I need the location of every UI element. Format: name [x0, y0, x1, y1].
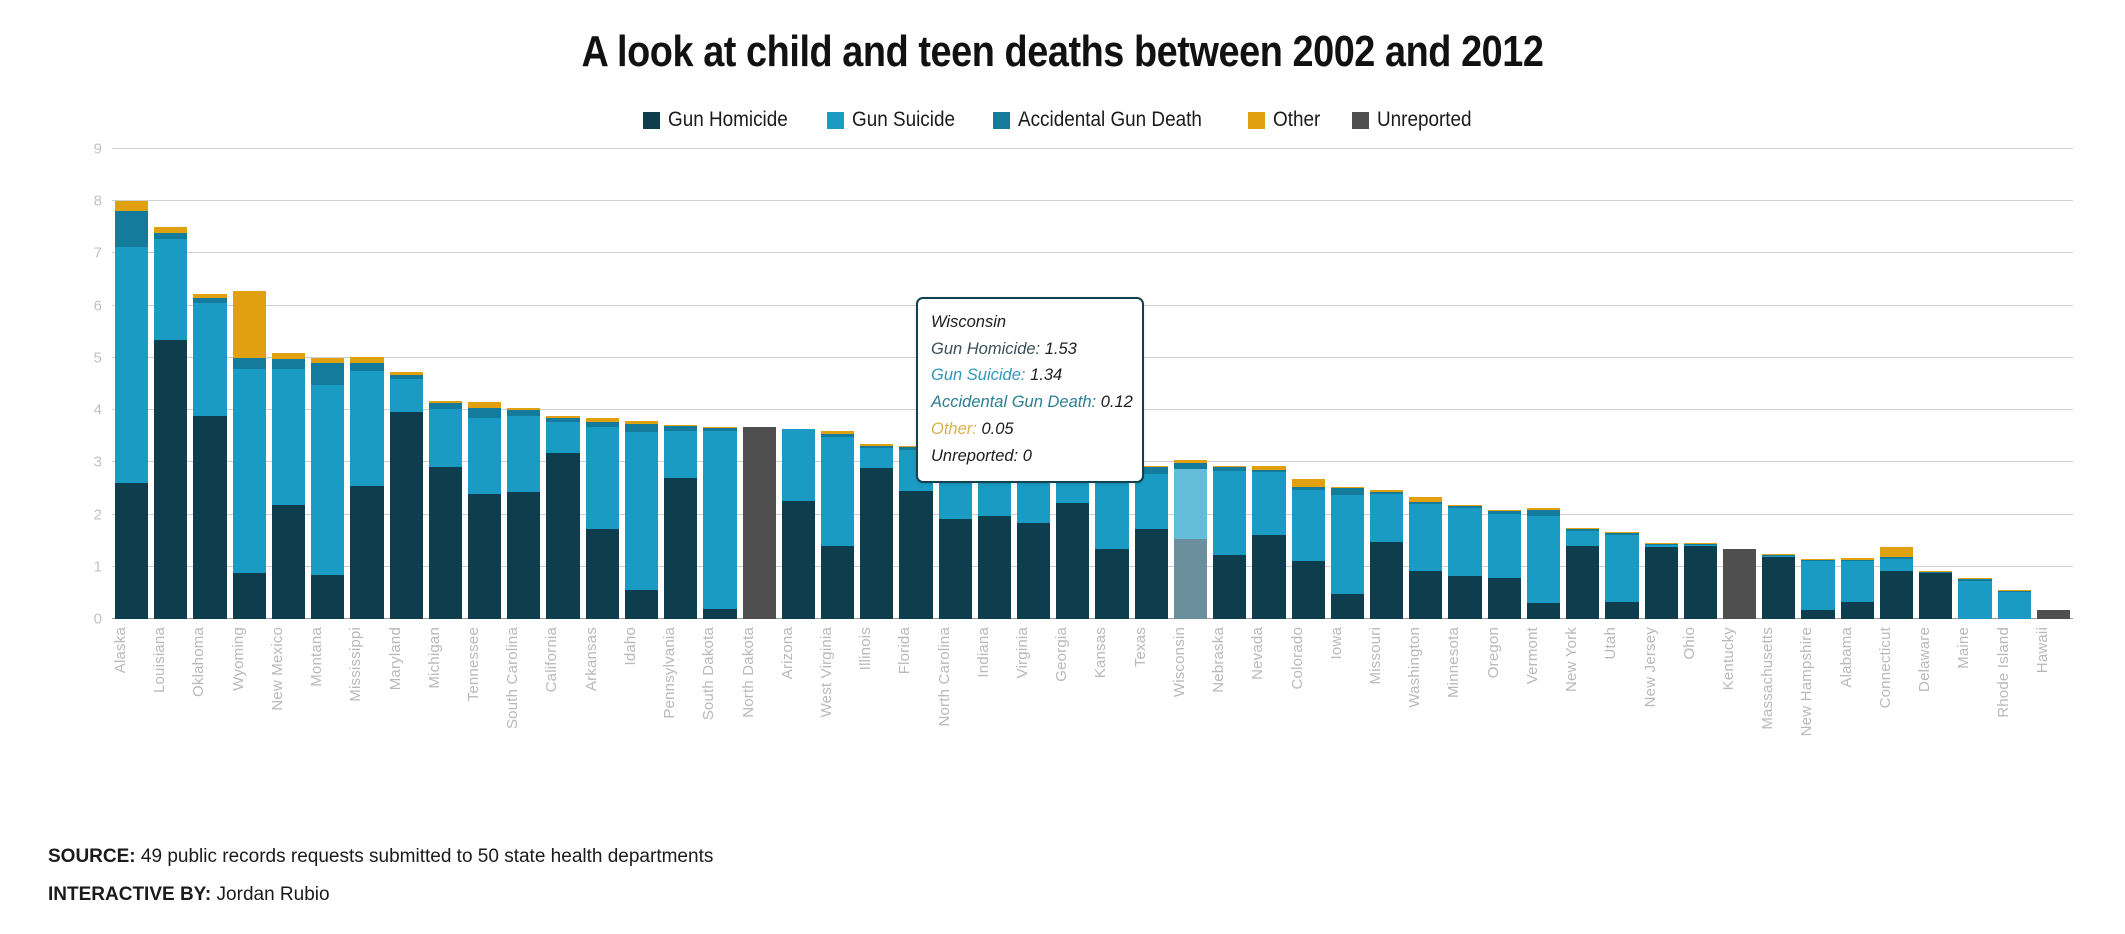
bar-segment: [1331, 594, 1364, 619]
x-axis-tick-label: Rhode Island: [1995, 627, 2012, 718]
bar-segment: [507, 416, 540, 492]
bar-stack[interactable]: [1292, 479, 1325, 619]
bar-segment: [703, 431, 736, 609]
bar-segment: [1331, 495, 1364, 594]
bar-segment: [1645, 547, 1678, 619]
bar-column[interactable]: [426, 149, 465, 619]
bar-stack[interactable]: [1801, 559, 1834, 619]
x-axis-tick[interactable]: Ohio: [1681, 627, 1720, 757]
bar-segment: [115, 483, 148, 619]
bar-segment: [1135, 529, 1168, 619]
tooltip-row-value: 1.34: [1025, 366, 1062, 384]
x-axis-tick-label: Iowa: [1328, 627, 1345, 660]
bar-segment: [1880, 559, 1913, 570]
x-axis-tick[interactable]: Connecticut: [1877, 627, 1916, 757]
chart-tooltip: Wisconsin Gun Homicide: 1.53Gun Suicide:…: [916, 297, 1144, 483]
bar-segment: [193, 303, 226, 416]
x-axis-tick[interactable]: Alabama: [1838, 627, 1877, 757]
bar-stack[interactable]: [1488, 510, 1521, 619]
bar-stack[interactable]: [1448, 505, 1481, 619]
bar-column[interactable]: [151, 149, 190, 619]
bar-segment: [350, 371, 383, 486]
bar-column[interactable]: [1681, 149, 1720, 619]
bar-segment: [390, 379, 423, 412]
x-axis-tick[interactable]: Alaska: [112, 627, 151, 757]
y-tick-label: 1: [94, 558, 102, 575]
x-axis-tick[interactable]: Wisconsin: [1171, 627, 1210, 757]
bar-column[interactable]: [1877, 149, 1916, 619]
legend-swatch-icon: [1352, 112, 1369, 129]
bar-segment: [625, 590, 658, 619]
tooltip-row-label: Other:: [931, 420, 977, 438]
bar-segment: [1292, 490, 1325, 561]
bar-stack[interactable]: [743, 427, 776, 619]
x-axis-tick-label: Nebraska: [1210, 627, 1227, 693]
legend-item-label: Accidental Gun Death: [1018, 108, 1202, 132]
bar-stack[interactable]: [546, 416, 579, 619]
x-axis-tick-label: Alabama: [1838, 627, 1855, 688]
bar-segment: [1017, 523, 1050, 619]
bar-segment: [311, 385, 344, 576]
interactive-by-label: INTERACTIVE BY:: [48, 884, 211, 905]
x-axis-tick-label: Oklahoma: [190, 627, 207, 697]
bar-segment: [546, 453, 579, 619]
x-axis-tick[interactable]: Oklahoma: [190, 627, 229, 757]
x-axis-tick-label: Wyoming: [230, 627, 247, 691]
bar-segment: [1488, 514, 1521, 579]
bar-column[interactable]: [1995, 149, 2034, 619]
bar-column[interactable]: [387, 149, 426, 619]
x-axis-tick-label: Indiana: [975, 627, 992, 678]
bar-column[interactable]: [1171, 149, 1210, 619]
x-axis-tick[interactable]: Idaho: [622, 627, 661, 757]
bar-segment: [350, 363, 383, 371]
x-axis-tick[interactable]: Texas: [1132, 627, 1171, 757]
bar-stack[interactable]: [1723, 549, 1756, 620]
x-axis-tick-label: New York: [1563, 627, 1580, 692]
bar-segment: [978, 516, 1011, 619]
bar-stack[interactable]: [1605, 532, 1638, 619]
x-axis-tick[interactable]: New Hampshire: [1798, 627, 1837, 757]
x-axis-tick-label: Michigan: [426, 627, 443, 689]
bar-column[interactable]: [308, 149, 347, 619]
x-axis-tick[interactable]: South Dakota: [700, 627, 739, 757]
bar-segment: [1919, 573, 1952, 619]
bar-stack[interactable]: [468, 402, 501, 619]
y-tick-label: 8: [94, 193, 102, 210]
bar-segment: [468, 418, 501, 494]
interactive-by-line: INTERACTIVE BY: Jordan Rubio: [48, 884, 1448, 906]
bar-segment: [1958, 581, 1991, 619]
bar-stack[interactable]: [1252, 466, 1285, 620]
x-axis-tick[interactable]: Rhode Island: [1995, 627, 2034, 757]
bar-column[interactable]: [269, 149, 308, 619]
x-axis-tick[interactable]: Nevada: [1249, 627, 1288, 757]
x-axis-tick-label: Texas: [1132, 627, 1149, 667]
x-axis-tick[interactable]: Vermont: [1524, 627, 1563, 757]
x-axis-tick-label: Washington: [1406, 627, 1423, 708]
chart-legend: Gun HomicideGun SuicideAccidental Gun De…: [0, 107, 2125, 133]
bar-stack[interactable]: [1841, 558, 1874, 619]
bar-segment: [899, 491, 932, 619]
x-axis-tick[interactable]: Maryland: [387, 627, 426, 757]
bar-segment: [429, 409, 462, 466]
bar-column[interactable]: [857, 149, 896, 619]
x-axis-tick-label: Ohio: [1681, 627, 1698, 660]
x-axis-tick[interactable]: Oregon: [1485, 627, 1524, 757]
bar-segment: [233, 358, 266, 369]
bar-segment: [1998, 592, 2031, 619]
legend-swatch-icon: [827, 112, 844, 129]
bar-column[interactable]: [190, 149, 229, 619]
bar-column[interactable]: [661, 149, 700, 619]
legend-item-label: Gun Suicide: [852, 108, 955, 132]
y-tick-label: 9: [94, 141, 102, 158]
bar-column[interactable]: [1798, 149, 1837, 619]
x-axis-tick-label: Arizona: [779, 627, 796, 679]
bar-column[interactable]: [818, 149, 857, 619]
bar-column[interactable]: [112, 149, 151, 619]
bar-stack[interactable]: [350, 357, 383, 619]
x-axis-tick[interactable]: Washington: [1406, 627, 1445, 757]
x-axis-tick[interactable]: Arizona: [779, 627, 818, 757]
x-axis-tick[interactable]: Wyoming: [230, 627, 269, 757]
tooltip-row-value: 0: [1018, 447, 1032, 465]
bar-column[interactable]: [583, 149, 622, 619]
bar-segment: [1801, 561, 1834, 610]
bar-segment: [2037, 610, 2070, 619]
x-axis-tick-label: Virginia: [1014, 627, 1031, 678]
tooltip-row-value: 1.53: [1040, 340, 1077, 358]
bar-segment: [1880, 571, 1913, 619]
bar-column[interactable]: [1445, 149, 1484, 619]
x-axis-tick-label: Missouri: [1367, 627, 1384, 684]
x-axis-tick-label: Delaware: [1916, 627, 1933, 692]
x-axis-tick-label: Minnesota: [1445, 627, 1462, 698]
tooltip-row-label: Unreported:: [931, 447, 1018, 465]
x-axis-tick[interactable]: Iowa: [1328, 627, 1367, 757]
x-axis-tick[interactable]: Virginia: [1014, 627, 1053, 757]
x-axis-tick-label: North Dakota: [740, 627, 757, 718]
x-axis-tick-label: Hawaii: [2034, 627, 2051, 673]
bar-segment: [625, 432, 658, 590]
bar-stack[interactable]: [625, 421, 658, 619]
bar-segment: [1292, 479, 1325, 487]
bar-column[interactable]: [1759, 149, 1798, 619]
y-tick-label: 4: [94, 402, 102, 419]
x-axis-tick-label: Montana: [308, 627, 325, 687]
bar-column[interactable]: [1485, 149, 1524, 619]
bar-stack[interactable]: [1095, 460, 1128, 619]
bar-segment: [1409, 504, 1442, 571]
bar-stack[interactable]: [1958, 578, 1991, 619]
x-axis-tick[interactable]: Georgia: [1053, 627, 1092, 757]
x-axis-tick[interactable]: California: [543, 627, 582, 757]
interactive-by-text: Jordan Rubio: [211, 884, 329, 905]
bar-column[interactable]: [230, 149, 269, 619]
x-axis-tick[interactable]: Missouri: [1367, 627, 1406, 757]
bar-column[interactable]: [1642, 149, 1681, 619]
bar-stack[interactable]: [1174, 460, 1207, 619]
bar-segment: [586, 427, 619, 529]
x-axis-tick-label: Oregon: [1485, 627, 1502, 678]
bar-stack[interactable]: [311, 358, 344, 619]
bar-segment: [272, 359, 305, 369]
bar-stack[interactable]: [1370, 490, 1403, 619]
bar-column[interactable]: [347, 149, 386, 619]
bar-segment: [782, 429, 815, 501]
bar-segment: [468, 408, 501, 418]
x-axis-tick-label: Illinois: [857, 627, 874, 670]
x-axis-tick[interactable]: Florida: [896, 627, 935, 757]
x-axis-tick[interactable]: Arkansas: [583, 627, 622, 757]
bar-stack[interactable]: [193, 294, 226, 619]
x-axis-tick-label: New Hampshire: [1798, 627, 1815, 736]
bar-segment: [1448, 576, 1481, 619]
legend-item-unreported[interactable]: Unreported: [1352, 108, 1482, 132]
bar-stack[interactable]: [1919, 571, 1952, 619]
bar-stack[interactable]: [272, 353, 305, 619]
x-axis-tick-label: Utah: [1602, 627, 1619, 660]
x-axis-labels: AlaskaLouisianaOklahomaWyomingNew Mexico…: [112, 627, 2073, 757]
x-axis-tick[interactable]: Mississippi: [347, 627, 386, 757]
x-axis-tick[interactable]: Utah: [1602, 627, 1641, 757]
bar-segment: [1370, 494, 1403, 542]
bar-segment: [272, 505, 305, 619]
bar-segment: [1370, 542, 1403, 619]
legend-swatch-icon: [993, 112, 1010, 129]
x-axis-tick[interactable]: Maine: [1955, 627, 1994, 757]
bar-stack[interactable]: [664, 425, 697, 619]
x-axis-tick-label: Maine: [1955, 627, 1972, 669]
bar-column[interactable]: [1602, 149, 1641, 619]
x-axis-tick-label: Arkansas: [583, 627, 600, 691]
bar-segment: [1409, 571, 1442, 619]
bar-segment: [1605, 602, 1638, 619]
x-axis-tick[interactable]: New Mexico: [269, 627, 308, 757]
bar-column[interactable]: [1289, 149, 1328, 619]
x-axis-tick[interactable]: Delaware: [1916, 627, 1955, 757]
bar-segment: [703, 609, 736, 619]
x-axis-tick[interactable]: Colorado: [1289, 627, 1328, 757]
bar-segment: [115, 201, 148, 210]
legend-item-label: Gun Homicide: [668, 108, 788, 132]
bar-segment: [429, 467, 462, 619]
x-axis-tick[interactable]: West Virginia: [818, 627, 857, 757]
x-axis-tick[interactable]: Illinois: [857, 627, 896, 757]
x-axis-tick[interactable]: North Carolina: [936, 627, 975, 757]
bar-segment: [311, 575, 344, 619]
bar-stack[interactable]: [115, 201, 148, 619]
x-axis-tick-label: Kentucky: [1720, 627, 1737, 690]
bar-segment: [1801, 610, 1834, 619]
bar-column[interactable]: [622, 149, 661, 619]
bar-stack[interactable]: [1684, 543, 1717, 619]
bar-column[interactable]: [1955, 149, 1994, 619]
x-axis-tick-label: Idaho: [622, 627, 639, 666]
x-axis-tick[interactable]: Kansas: [1092, 627, 1131, 757]
source-text: 49 public records requests submitted to …: [136, 846, 714, 867]
bar-stack[interactable]: [1762, 554, 1795, 619]
bar-column[interactable]: [543, 149, 582, 619]
bar-column[interactable]: [779, 149, 818, 619]
bar-stack[interactable]: [154, 227, 187, 619]
bar-segment: [233, 291, 266, 358]
bar-segment: [115, 211, 148, 248]
x-axis-tick-label: South Carolina: [504, 627, 521, 729]
bar-column[interactable]: [1916, 149, 1955, 619]
x-axis-tick-label: New Jersey: [1642, 627, 1659, 707]
x-axis-tick[interactable]: Montana: [308, 627, 347, 757]
bar-stack[interactable]: [860, 444, 893, 619]
x-axis-tick-label: Massachusetts: [1759, 627, 1776, 730]
bar-segment: [1213, 471, 1246, 556]
bar-segment: [821, 546, 854, 619]
bar-column[interactable]: [2034, 149, 2073, 619]
bar-column[interactable]: [1563, 149, 1602, 619]
x-axis-tick-label: Connecticut: [1877, 627, 1894, 708]
x-axis-tick[interactable]: Indiana: [975, 627, 1014, 757]
x-axis-tick-label: Kansas: [1092, 627, 1109, 678]
bar-column[interactable]: [1249, 149, 1288, 619]
x-axis-tick-label: Wisconsin: [1171, 627, 1188, 697]
bar-stack[interactable]: [703, 427, 736, 619]
x-axis-tick[interactable]: North Dakota: [740, 627, 779, 757]
y-tick-label: 7: [94, 245, 102, 262]
bar-stack[interactable]: [782, 429, 815, 619]
bar-segment: [1527, 603, 1560, 619]
bar-stack[interactable]: [1135, 466, 1168, 619]
bar-stack[interactable]: [2037, 610, 2070, 619]
bar-column[interactable]: [504, 149, 543, 619]
legend-swatch-icon: [1248, 112, 1265, 129]
tooltip-row-label: Accidental Gun Death:: [931, 393, 1096, 411]
x-axis-tick[interactable]: Pennsylvania: [661, 627, 700, 757]
bar-stack[interactable]: [1645, 543, 1678, 619]
bar-column[interactable]: [1524, 149, 1563, 619]
x-axis-tick-label: North Carolina: [936, 627, 953, 727]
x-axis-tick[interactable]: Nebraska: [1210, 627, 1249, 757]
legend-item-label: Other: [1273, 108, 1320, 132]
bar-segment: [154, 239, 187, 339]
source-label: SOURCE:: [48, 846, 136, 867]
x-axis-tick[interactable]: Massachusetts: [1759, 627, 1798, 757]
bar-segment: [743, 427, 776, 619]
bar-column[interactable]: [1838, 149, 1877, 619]
bar-segment: [939, 519, 972, 619]
x-axis-tick-label: Alaska: [112, 627, 129, 673]
bar-column[interactable]: [465, 149, 504, 619]
bar-segment: [233, 369, 266, 573]
tooltip-row-value: 0.12: [1096, 393, 1133, 411]
x-axis-tick[interactable]: New Jersey: [1642, 627, 1681, 757]
bar-segment: [1605, 535, 1638, 602]
bar-segment: [1880, 547, 1913, 557]
bar-stack[interactable]: [233, 291, 266, 619]
bar-stack[interactable]: [1409, 497, 1442, 619]
legend-item-gun-suicide[interactable]: Gun Suicide: [827, 108, 966, 132]
bar-segment: [154, 340, 187, 619]
bar-segment: [1174, 469, 1207, 539]
y-tick-label: 2: [94, 506, 102, 523]
bar-segment: [821, 437, 854, 546]
bar-segment: [1095, 549, 1128, 619]
bar-segment: [1174, 539, 1207, 619]
x-axis-tick[interactable]: Louisiana: [151, 627, 190, 757]
bar-segment: [311, 363, 344, 385]
bar-segment: [1841, 602, 1874, 619]
x-axis-tick-label: California: [543, 627, 560, 692]
chart-footer: SOURCE: 49 public records requests submi…: [48, 846, 1448, 906]
bar-column[interactable]: [1328, 149, 1367, 619]
tooltip-row: Other: 0.05: [931, 416, 1129, 443]
bar-stack[interactable]: [1331, 487, 1364, 619]
x-axis-tick-label: Pennsylvania: [661, 627, 678, 719]
x-axis-tick[interactable]: Kentucky: [1720, 627, 1759, 757]
bar-segment: [586, 529, 619, 619]
bar-segment: [782, 501, 815, 619]
x-axis-tick-label: Colorado: [1289, 627, 1306, 689]
bar-column[interactable]: [1406, 149, 1445, 619]
x-axis-tick-label: West Virginia: [818, 627, 835, 717]
x-axis-tick[interactable]: New York: [1563, 627, 1602, 757]
x-axis-tick-label: Maryland: [387, 627, 404, 690]
x-axis-tick-label: Louisiana: [151, 627, 168, 693]
source-line: SOURCE: 49 public records requests submi…: [48, 846, 1448, 868]
bar-segment: [1527, 516, 1560, 604]
legend-item-other[interactable]: Other: [1248, 108, 1326, 132]
tooltip-state: Wisconsin: [931, 309, 1129, 336]
bar-segment: [664, 431, 697, 478]
bar-stack[interactable]: [1998, 590, 2031, 619]
bar-column[interactable]: [1210, 149, 1249, 619]
page-title: A look at child and teen deaths between …: [149, 0, 1977, 77]
x-axis-tick[interactable]: Tennessee: [465, 627, 504, 757]
bar-stack[interactable]: [1880, 547, 1913, 619]
bar-column[interactable]: [700, 149, 739, 619]
x-axis-tick[interactable]: Minnesota: [1445, 627, 1484, 757]
x-axis-tick-label: South Dakota: [700, 627, 717, 720]
bar-segment: [1292, 561, 1325, 619]
bar-stack[interactable]: [1527, 508, 1560, 619]
bar-stack[interactable]: [1566, 528, 1599, 619]
legend-item-accidental-gun-death[interactable]: Accidental Gun Death: [993, 108, 1222, 132]
y-tick-label: 3: [94, 454, 102, 471]
bar-stack[interactable]: [586, 418, 619, 619]
bar-segment: [507, 492, 540, 619]
bar-stack[interactable]: [821, 431, 854, 619]
bar-segment: [193, 416, 226, 619]
bar-stack[interactable]: [429, 401, 462, 619]
bar-stack[interactable]: [1213, 466, 1246, 620]
x-axis-tick-label: Mississippi: [347, 627, 364, 702]
bar-segment: [390, 412, 423, 619]
x-axis-tick-label: Nevada: [1249, 627, 1266, 680]
x-axis-tick[interactable]: Michigan: [426, 627, 465, 757]
tooltip-row-label: Gun Suicide:: [931, 366, 1025, 384]
bar-column[interactable]: [1367, 149, 1406, 619]
tooltip-row: Unreported: 0: [931, 443, 1129, 470]
x-axis-tick[interactable]: Hawaii: [2034, 627, 2073, 757]
bar-segment: [1566, 546, 1599, 619]
x-axis-tick[interactable]: South Carolina: [504, 627, 543, 757]
bar-column[interactable]: [1720, 149, 1759, 619]
legend-item-gun-homicide[interactable]: Gun Homicide: [643, 108, 801, 132]
y-tick-label: 5: [94, 349, 102, 366]
bar-column[interactable]: [740, 149, 779, 619]
bar-stack[interactable]: [507, 408, 540, 619]
bar-stack[interactable]: [390, 372, 423, 619]
